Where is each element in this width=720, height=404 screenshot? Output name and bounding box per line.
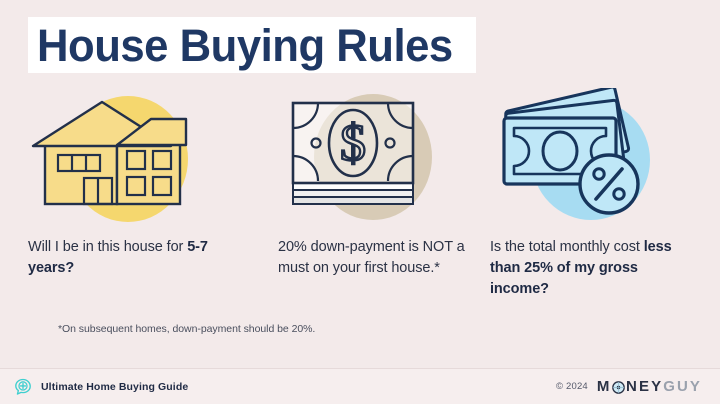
rule-column-monthly-cost: Is the total monthly cost less than 25% … bbox=[480, 88, 720, 300]
rule-column-down-payment: $ 20% down-payment is NOT a must on your… bbox=[240, 88, 480, 300]
cash-percent-icon bbox=[490, 88, 670, 223]
moneyguy-logo[interactable]: M NEY GUY bbox=[597, 378, 702, 395]
caption-text-plain: Is the total monthly cost bbox=[490, 239, 644, 255]
footnote: *On subsequent homes, down-payment shoul… bbox=[58, 323, 315, 335]
page-title-highlight: House Buying Rules bbox=[28, 17, 476, 73]
infographic-root: House Buying Rules bbox=[0, 0, 720, 404]
brand-m: M bbox=[597, 378, 612, 395]
brand-guy: GUY bbox=[663, 378, 702, 395]
footer-bar: Ultimate Home Buying Guide © 2024 M NEY … bbox=[0, 368, 720, 404]
footer-guide-link[interactable]: Ultimate Home Buying Guide bbox=[14, 378, 188, 396]
globe-icon bbox=[612, 381, 625, 394]
rule-caption-down-payment: 20% down-payment is NOT a must on your f… bbox=[278, 237, 468, 279]
chat-plus-icon bbox=[14, 378, 32, 396]
rule-caption-monthly-cost: Is the total monthly cost less than 25% … bbox=[490, 237, 690, 300]
page-title: House Buying Rules bbox=[37, 23, 453, 68]
rules-columns: Will I be in this house for 5-7 years? bbox=[0, 88, 720, 300]
cash-percent-icon-container bbox=[490, 88, 670, 223]
house-icon-container bbox=[28, 88, 208, 223]
copyright-text: © 2024 bbox=[556, 381, 588, 392]
footer-guide-label: Ultimate Home Buying Guide bbox=[41, 381, 188, 393]
svg-text:$: $ bbox=[340, 115, 366, 172]
cash-dollar-bill-icon: $ bbox=[278, 88, 458, 223]
house-icon bbox=[28, 88, 208, 223]
footer-brand-area: © 2024 M NEY GUY bbox=[556, 378, 702, 395]
cash-dollar-bill-icon-container: $ bbox=[278, 88, 458, 223]
rule-column-timeline: Will I be in this house for 5-7 years? bbox=[0, 88, 240, 300]
brand-ney: NEY bbox=[626, 378, 663, 395]
caption-text-plain: 20% down-payment is NOT a must on your f… bbox=[278, 239, 465, 276]
rule-caption-timeline: Will I be in this house for 5-7 years? bbox=[28, 237, 228, 279]
caption-text-plain: Will I be in this house for bbox=[28, 239, 187, 255]
